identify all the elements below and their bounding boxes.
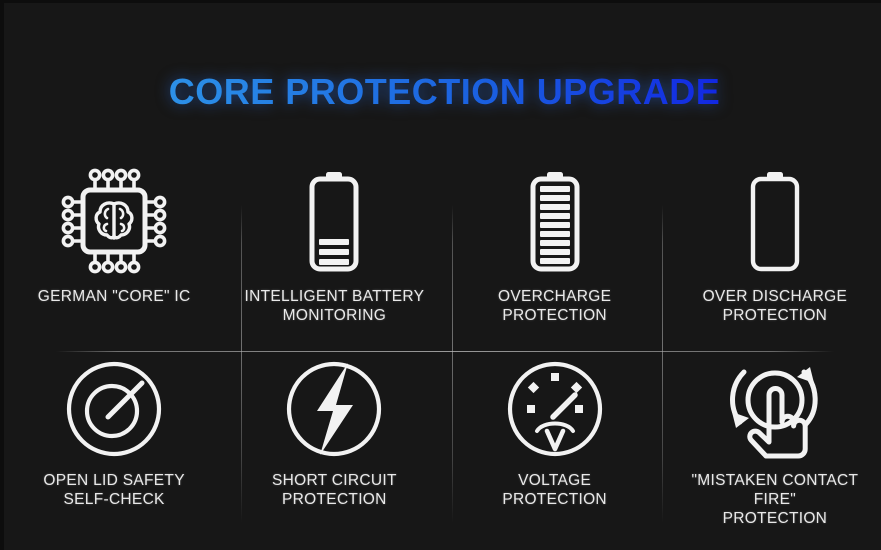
page-title: CORE PROTECTION UPGRADE	[4, 71, 881, 113]
battery-low-icon	[298, 163, 370, 281]
gauge-needle-icon	[62, 353, 166, 465]
hand-touch-circle-icon	[720, 353, 830, 465]
battery-full-icon	[519, 163, 591, 281]
feature-label: INTELLIGENT BATTERY MONITORING	[239, 287, 431, 325]
feature-label: OPEN LID SAFETY SELF-CHECK	[37, 471, 190, 509]
feature-cell-overcharge-protection[interactable]: OVERCHARGE PROTECTION	[445, 163, 665, 353]
feature-label: OVER DISCHARGE PROTECTION	[697, 287, 854, 325]
feature-label: SHORT CIRCUIT PROTECTION	[266, 471, 403, 509]
voltmeter-dial-icon	[503, 353, 607, 465]
feature-label: OVERCHARGE PROTECTION	[492, 287, 617, 325]
feature-label: "MISTAKEN CONTACT FIRE" PROTECTION	[665, 471, 881, 528]
feature-cell-mistaken-contact-fire-protection[interactable]: "MISTAKEN CONTACT FIRE" PROTECTION	[665, 353, 881, 543]
chip-brain-icon	[55, 163, 173, 281]
feature-cell-voltage-protection[interactable]: VOLTAGE PROTECTION	[445, 353, 665, 543]
feature-cell-intelligent-battery-monitoring[interactable]: INTELLIGENT BATTERY MONITORING	[224, 163, 444, 353]
feature-cell-over-discharge-protection[interactable]: OVER DISCHARGE PROTECTION	[665, 163, 881, 353]
lightning-bolt-circle-icon	[282, 353, 386, 465]
feature-cell-open-lid-safety-self-check[interactable]: OPEN LID SAFETY SELF-CHECK	[4, 353, 224, 543]
core-protection-poster: CORE PROTECTION UPGRADE	[0, 0, 881, 550]
feature-label: GERMAN "CORE" IC	[32, 287, 197, 306]
feature-label: VOLTAGE PROTECTION	[496, 471, 613, 509]
battery-empty-icon	[739, 163, 811, 281]
feature-cell-short-circuit-protection[interactable]: SHORT CIRCUIT PROTECTION	[224, 353, 444, 543]
feature-cell-german-core-ic[interactable]: GERMAN "CORE" IC	[4, 163, 224, 353]
feature-grid: GERMAN "CORE" IC INTELLIGENT BATTERY MON…	[4, 163, 881, 543]
